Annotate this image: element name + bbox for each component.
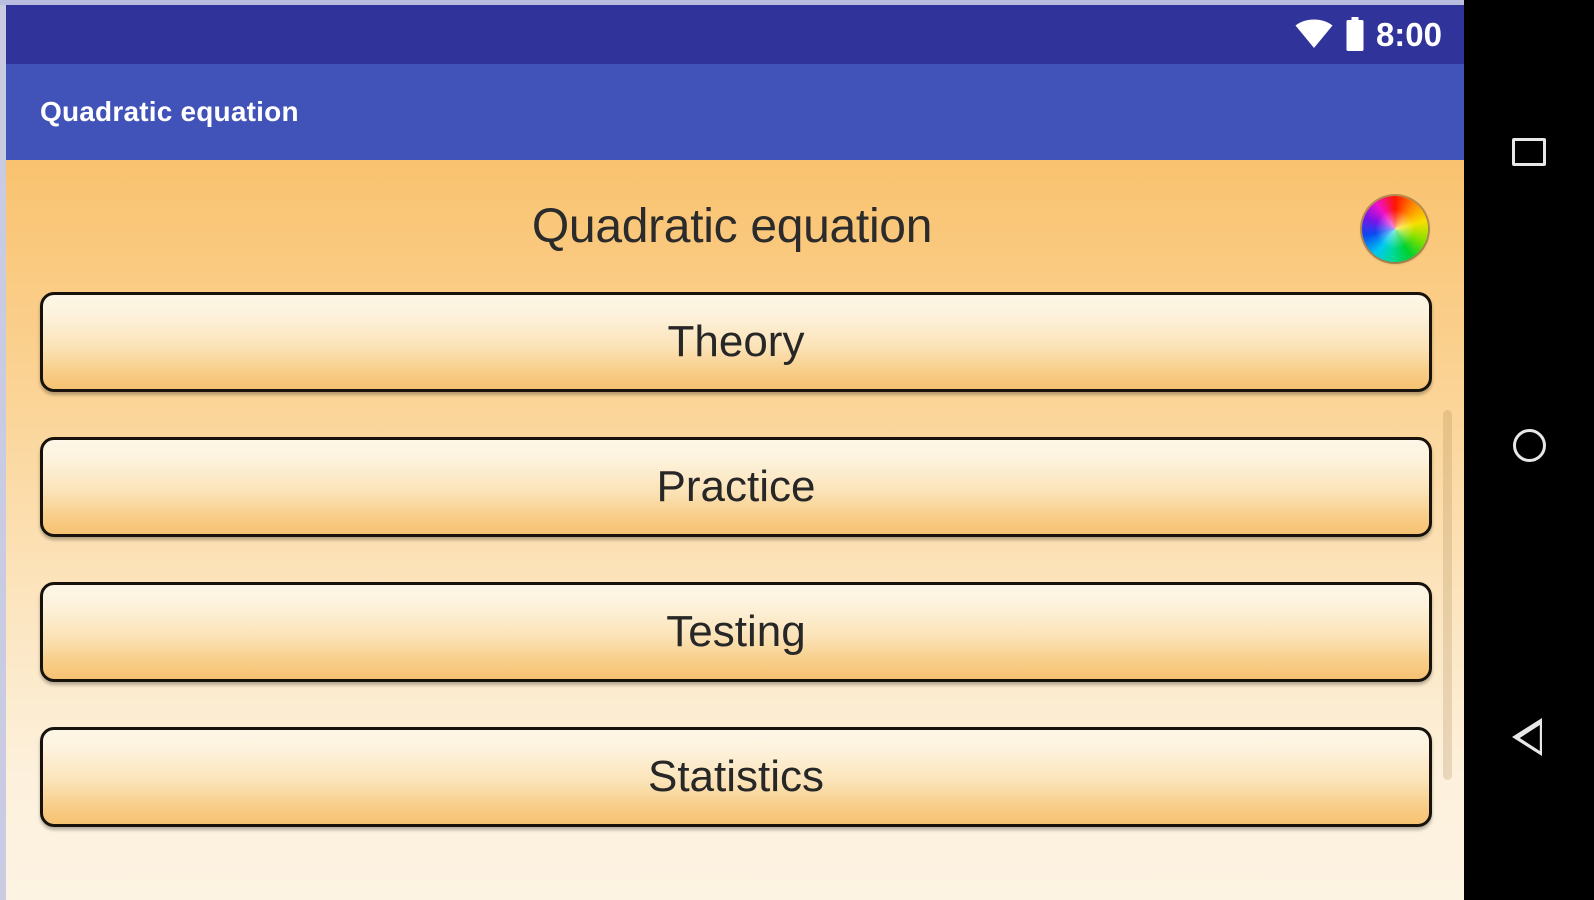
action-bar: Quadratic equation	[0, 64, 1464, 160]
nav-back-button[interactable]	[1497, 706, 1561, 770]
triangle-left-icon	[1512, 718, 1546, 758]
status-bar: 8:00	[0, 4, 1464, 64]
circle-icon	[1513, 429, 1546, 462]
wifi-icon	[1294, 19, 1334, 49]
content-scrollbar[interactable]	[1443, 410, 1452, 780]
menu-button-theory[interactable]: Theory	[40, 292, 1432, 392]
menu-button-practice[interactable]: Practice	[40, 437, 1432, 537]
menu-button-testing[interactable]: Testing	[40, 582, 1432, 682]
color-wheel-icon[interactable]	[1362, 196, 1428, 262]
square-icon	[1512, 138, 1546, 166]
content-header: Quadratic equation	[0, 160, 1464, 292]
battery-icon	[1345, 17, 1365, 51]
screen-edge-left	[0, 0, 6, 900]
screen-edge-top	[0, 0, 1464, 5]
device-screen: 8:00 Quadratic equation Quadratic equati…	[0, 0, 1594, 900]
status-icon-group: 8:00	[1294, 17, 1442, 51]
navigation-bar	[1464, 0, 1594, 900]
main-content: Quadratic equation Theory Practice Testi…	[0, 160, 1464, 900]
nav-home-button[interactable]	[1497, 413, 1561, 477]
action-bar-title: Quadratic equation	[0, 96, 299, 128]
menu-button-list: Theory Practice Testing Statistics	[0, 292, 1464, 827]
status-bar-clock: 8:00	[1376, 18, 1442, 51]
nav-recents-button[interactable]	[1497, 120, 1561, 184]
page-title: Quadratic equation	[532, 199, 932, 254]
menu-button-statistics[interactable]: Statistics	[40, 727, 1432, 827]
phone-viewport: 8:00 Quadratic equation Quadratic equati…	[0, 0, 1464, 900]
triangle-left-inner	[1520, 725, 1540, 751]
